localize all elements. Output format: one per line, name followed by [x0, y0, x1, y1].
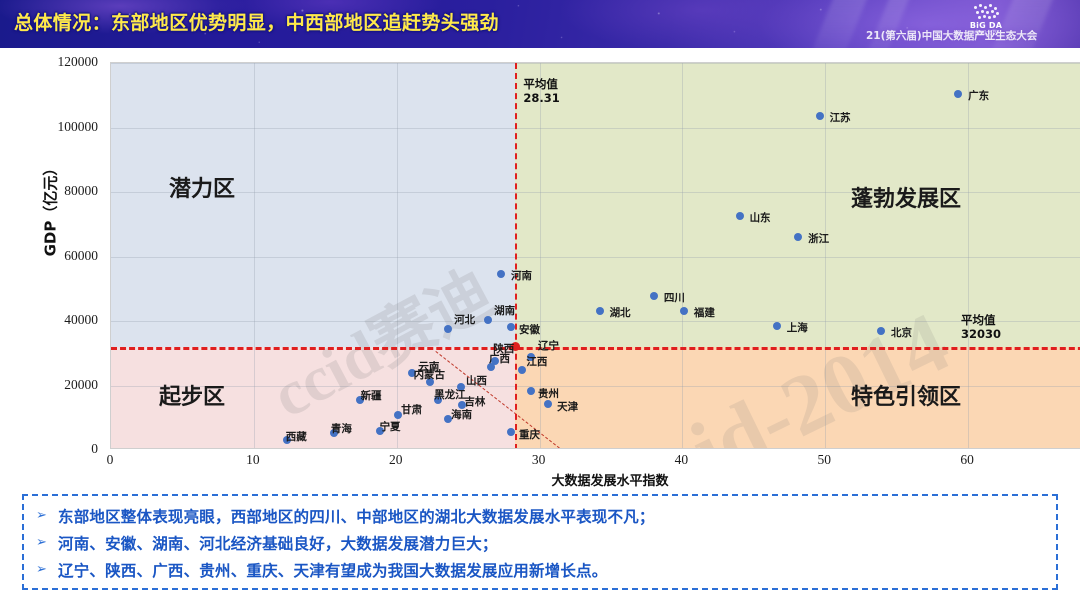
data-point-label: 浙江 [808, 231, 829, 246]
data-point-label: 福建 [694, 305, 715, 320]
annotation-y-mean: 平均值 32030 [961, 313, 1001, 341]
data-point-label: 北京 [891, 325, 912, 340]
data-point-label: 河北 [454, 312, 475, 327]
data-point-label: 山东 [750, 210, 771, 225]
mean-line-horizontal [111, 347, 1080, 350]
bullet-arrow-icon: ➢ [36, 562, 58, 577]
quadrant-label-top-left: 潜力区 [169, 171, 235, 203]
x-axis-ticks: 010203040506070 [110, 452, 1080, 472]
gridline-vertical [682, 63, 683, 449]
data-point [507, 428, 515, 436]
data-point [954, 90, 962, 98]
data-point [544, 400, 552, 408]
bullet-text: 河南、安徽、湖南、河北经济基础良好，大数据发展潜力巨大； [58, 532, 498, 554]
x-tick-label: 0 [107, 452, 114, 468]
gridline-horizontal [111, 128, 1080, 129]
x-tick-label: 60 [960, 452, 974, 468]
data-point-label: 宁夏 [380, 419, 401, 434]
data-point-label: 湖南 [494, 303, 515, 318]
y-tick-label: 20000 [64, 377, 98, 393]
data-point-label: 上海 [787, 320, 808, 335]
conference-name: 21(第六届)中国大数据产业生态大会 [866, 28, 1037, 43]
data-point [736, 212, 744, 220]
gridline-horizontal [111, 257, 1080, 258]
slide-page: 总体情况：东部地区优势明显，中西部地区追赶势头强劲 BiG DA 中国大数 21… [0, 0, 1080, 607]
plot-area: ccid赛迪 ccid-2014 潜力区蓬勃发展区起步区特色引领区 广东江苏山东… [110, 62, 1080, 449]
bullet-arrow-icon: ➢ [36, 535, 58, 550]
scatter-chart: GDP（亿元） 02000040000600008000010000012000… [0, 48, 1080, 488]
data-point [484, 316, 492, 324]
quadrant-label-top-right: 蓬勃发展区 [851, 181, 961, 213]
data-point [650, 292, 658, 300]
y-tick-label: 80000 [64, 183, 98, 199]
y-axis-ticks: 020000400006000080000100000120000 [0, 62, 104, 449]
data-point-label: 黑龙江 [434, 387, 466, 402]
data-point-label: 山西 [466, 373, 487, 388]
data-point-label: 新疆 [361, 388, 382, 403]
data-point [596, 307, 604, 315]
data-point-label: 甘肃 [401, 402, 422, 417]
bullet-text: 辽宁、陕西、广西、贵州、重庆、天津有望成为我国大数据发展应用新增长点。 [58, 559, 608, 581]
gridline-vertical [825, 63, 826, 449]
quadrant-bottom-right [515, 347, 1080, 449]
y-tick-label: 40000 [64, 312, 98, 328]
data-point-label: 辽宁 [538, 338, 559, 353]
annotation-x-mean: 平均值 28.31 [523, 77, 559, 105]
data-point-label: 安徽 [519, 322, 540, 337]
x-tick-label: 20 [389, 452, 403, 468]
data-point [773, 322, 781, 330]
gridline-horizontal [111, 63, 1080, 64]
data-point-label: 江西 [526, 354, 547, 369]
gridline-horizontal [111, 321, 1080, 322]
data-point [816, 112, 824, 120]
mean-line-vertical [515, 63, 517, 449]
x-tick-label: 50 [818, 452, 832, 468]
data-point-label: 天津 [557, 399, 578, 414]
header-banner: 总体情况：东部地区优势明显，中西部地区追赶势头强劲 BiG DA 中国大数 21… [0, 0, 1080, 48]
x-tick-label: 10 [246, 452, 260, 468]
x-axis-title: 大数据发展水平指数 [110, 470, 1080, 489]
page-title: 总体情况：东部地区优势明显，中西部地区追赶势头强劲 [14, 8, 499, 35]
data-point-label: 重庆 [519, 427, 540, 442]
data-point-label: 广西 [489, 351, 510, 366]
data-point-label: 广东 [968, 88, 989, 103]
bullet-item: ➢辽宁、陕西、广西、贵州、重庆、天津有望成为我国大数据发展应用新增长点。 [36, 556, 1046, 583]
y-tick-label: 0 [91, 441, 98, 457]
data-point-label: 海南 [451, 407, 472, 422]
logo-dot-cloud-icon [972, 3, 1000, 21]
quadrant-label-bottom-left: 起步区 [159, 379, 225, 411]
bullet-text: 东部地区整体表现亮眼，西部地区的四川、中部地区的湖北大数据发展水平表现不凡； [58, 505, 655, 527]
bullet-item: ➢东部地区整体表现亮眼，西部地区的四川、中部地区的湖北大数据发展水平表现不凡； [36, 502, 1046, 529]
data-point-label: 青海 [331, 421, 352, 436]
data-point-label: 内蒙古 [414, 367, 446, 382]
summary-callout-box: ➢东部地区整体表现亮眼，西部地区的四川、中部地区的湖北大数据发展水平表现不凡；➢… [22, 494, 1058, 590]
y-tick-label: 60000 [64, 248, 98, 264]
data-point-label: 江苏 [830, 110, 851, 125]
y-tick-label: 120000 [58, 54, 99, 70]
quadrant-top-left [111, 63, 515, 347]
quadrant-label-bottom-right: 特色引领区 [851, 379, 961, 411]
bullet-item: ➢河南、安徽、湖南、河北经济基础良好，大数据发展潜力巨大； [36, 529, 1046, 556]
data-point-label: 河南 [511, 268, 532, 283]
x-tick-label: 40 [675, 452, 689, 468]
data-point-label: 湖北 [610, 305, 631, 320]
bullet-arrow-icon: ➢ [36, 508, 58, 523]
data-point-label: 四川 [664, 290, 685, 305]
gridline-vertical [397, 63, 398, 449]
data-point [507, 323, 515, 331]
x-tick-label: 30 [532, 452, 546, 468]
gridline-vertical [254, 63, 255, 449]
gridline-vertical [968, 63, 969, 449]
y-tick-label: 100000 [58, 119, 99, 135]
data-point-label: 西藏 [286, 429, 307, 444]
quadrant-top-right [515, 63, 1080, 347]
